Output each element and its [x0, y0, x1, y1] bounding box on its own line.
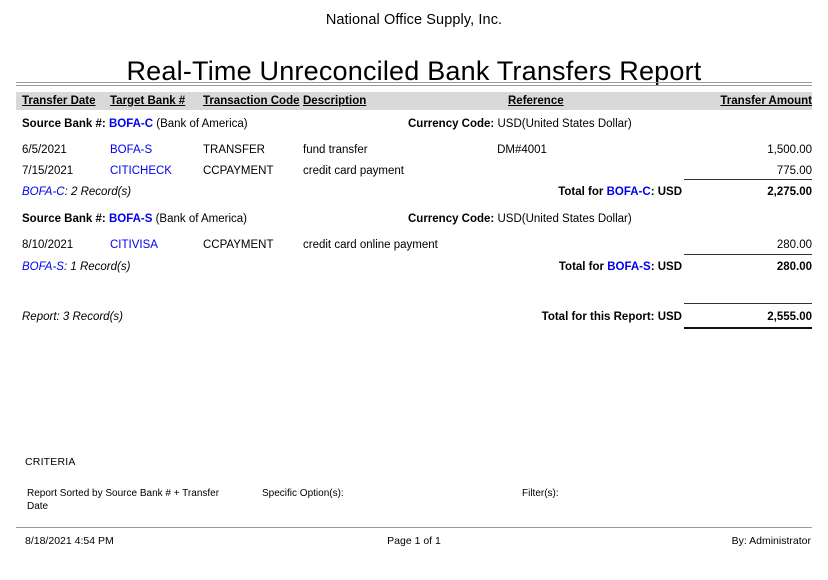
target-bank-link[interactable]: CITICHECK: [110, 164, 172, 178]
group-total-suffix: : USD: [651, 186, 682, 198]
description: credit card online payment: [303, 238, 438, 252]
transaction-code: TRANSFER: [203, 143, 265, 157]
description: fund transfer: [303, 143, 368, 157]
group-record-count-text: : 2 Record(s): [65, 186, 131, 198]
group-total-prefix: Total for: [559, 261, 604, 273]
footer-rule: [16, 527, 812, 528]
report-total-label: Total for this Report: USD: [542, 310, 682, 324]
table-row: 8/10/2021: [22, 238, 73, 252]
source-bank-code[interactable]: BOFA-C: [109, 118, 153, 130]
transfer-amount: 1,500.00: [767, 143, 812, 157]
source-bank-name: (Bank of America): [156, 118, 247, 130]
header-rule-upper: [16, 82, 812, 83]
transaction-code: CCPAYMENT: [203, 238, 274, 252]
group-total-code: BOFA-C: [607, 186, 651, 198]
group-record-count-code: BOFA-C: [22, 186, 65, 198]
table-row: 7/15/2021: [22, 164, 73, 178]
column-header-reference: Reference: [508, 95, 564, 108]
description: credit card payment: [303, 164, 404, 178]
report-total-rule-bottom: [684, 327, 812, 329]
report-page: National Office Supply, Inc. Real-Time U…: [0, 0, 828, 580]
group-total-label: Total for BOFA-C: USD: [558, 185, 682, 199]
group-total-amount: 2,275.00: [767, 185, 812, 199]
group-header-currency: Currency Code: USD(United States Dollar): [408, 117, 632, 131]
group-header-source-bank: Source Bank #: BOFA-S (Bank of America): [22, 212, 247, 226]
footer-page-number: Page 1 of 1: [0, 535, 828, 548]
currency-code-label: Currency Code:: [408, 213, 494, 225]
column-header-transfer-amount: Transfer Amount: [720, 95, 812, 108]
criteria-sorted-by: Report Sorted by Source Bank # + Transfe…: [27, 487, 227, 513]
source-bank-code[interactable]: BOFA-S: [109, 213, 152, 225]
group-record-count-text: : 1 Record(s): [64, 261, 130, 273]
table-row: 6/5/2021: [22, 143, 67, 157]
reference: DM#4001: [447, 143, 597, 157]
footer-author: By: Administrator: [732, 535, 811, 548]
report-total-rule-top: [684, 303, 812, 304]
target-bank-link[interactable]: CITIVISA: [110, 238, 158, 252]
group-total-prefix: Total for: [558, 186, 603, 198]
criteria-specific-options: Specific Option(s):: [262, 487, 482, 500]
column-header-transfer-date: Transfer Date: [22, 95, 96, 108]
column-header-transaction-code: Transaction Code: [203, 95, 300, 108]
group-header-source-bank: Source Bank #: BOFA-C (Bank of America): [22, 117, 248, 131]
transaction-code: CCPAYMENT: [203, 164, 274, 178]
criteria-filters: Filter(s):: [522, 487, 742, 500]
group-total-amount: 280.00: [777, 260, 812, 274]
header-rule-lower: [16, 85, 812, 86]
source-bank-name: (Bank of America): [156, 213, 247, 225]
transfer-amount: 775.00: [777, 164, 812, 178]
currency-code-value: USD(United States Dollar): [497, 213, 631, 225]
transfer-amount: 280.00: [777, 238, 812, 252]
report-total-amount: 2,555.00: [767, 310, 812, 324]
source-bank-label: Source Bank #:: [22, 213, 106, 225]
subtotal-rule: [684, 179, 812, 180]
group-total-code: BOFA-S: [607, 261, 650, 273]
criteria-heading: CRITERIA: [25, 456, 76, 469]
source-bank-label: Source Bank #:: [22, 118, 106, 130]
subtotal-rule: [684, 254, 812, 255]
company-name: National Office Supply, Inc.: [0, 11, 828, 29]
group-record-count-code: BOFA-S: [22, 261, 64, 273]
currency-code-value: USD(United States Dollar): [497, 118, 631, 130]
group-record-count: BOFA-C: 2 Record(s): [22, 185, 131, 199]
group-total-label: Total for BOFA-S: USD: [559, 260, 682, 274]
group-header-currency: Currency Code: USD(United States Dollar): [408, 212, 632, 226]
column-header-target-bank: Target Bank #: [110, 95, 185, 108]
group-record-count: BOFA-S: 1 Record(s): [22, 260, 130, 274]
report-record-count: Report: 3 Record(s): [22, 310, 123, 324]
column-header-description: Description: [303, 95, 366, 108]
currency-code-label: Currency Code:: [408, 118, 494, 130]
target-bank-link[interactable]: BOFA-S: [110, 143, 152, 157]
group-total-suffix: : USD: [651, 261, 682, 273]
